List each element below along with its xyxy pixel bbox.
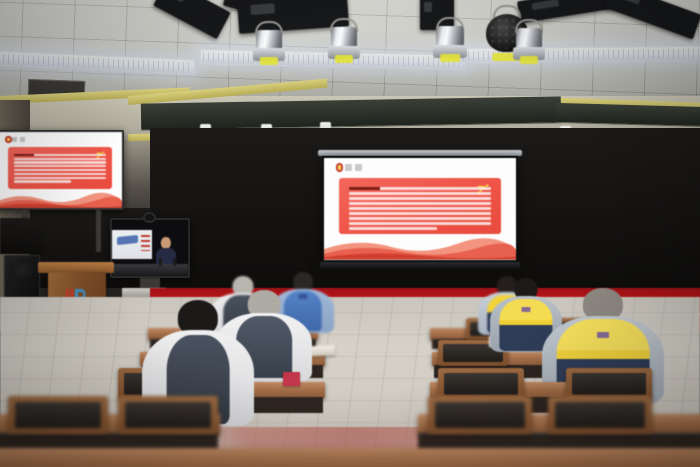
vc-desk	[112, 264, 188, 276]
stage-light-2	[331, 27, 357, 54]
pa-speaker-upper	[4, 255, 40, 298]
slide-header-main	[336, 163, 362, 172]
stage-light-3	[436, 26, 464, 53]
chair-row-d-4	[548, 396, 652, 434]
left-display-slide	[0, 132, 122, 208]
party-emblem-icon	[5, 136, 11, 143]
vc-slide-graphic	[117, 235, 138, 245]
chair-row-d-1	[8, 396, 108, 434]
slide-wave-decoration	[0, 188, 122, 208]
projection-slide	[324, 158, 516, 260]
vc-slide-text	[141, 235, 150, 252]
slide-red-card	[8, 147, 112, 189]
chair-row-d-2	[118, 396, 218, 434]
vest-logo	[597, 332, 609, 338]
vc-microphone-2	[173, 258, 176, 266]
conference-room-photo	[0, 0, 700, 467]
chair-row-d-3	[428, 396, 532, 434]
video-conference-monitor	[110, 218, 190, 278]
vc-microphone-1	[159, 258, 162, 266]
left-led-display	[0, 130, 124, 210]
party-emblem-icon	[336, 163, 344, 172]
wall-cabinet	[0, 218, 44, 254]
slide-body-text	[14, 154, 106, 186]
slide-red-card	[339, 178, 500, 234]
stage-light-5	[516, 28, 542, 55]
video-conference-feed	[112, 220, 188, 276]
projection-screen	[322, 156, 518, 262]
slide-wave-decoration	[324, 233, 516, 260]
notebook-on-desk	[283, 372, 300, 386]
projection-screen-weight-bar	[320, 262, 520, 269]
ceiling-beam-right	[556, 103, 700, 127]
vest-logo	[522, 307, 531, 312]
desk-row-e-front	[0, 448, 700, 467]
slide-header-text	[12, 137, 25, 142]
left-display-stand-right	[96, 210, 101, 252]
video-monitor-stand	[140, 278, 160, 288]
slide-header-text	[345, 164, 362, 171]
slide-header-left	[5, 136, 25, 143]
slide-body-text	[349, 187, 491, 230]
stage-light-1	[256, 30, 282, 56]
